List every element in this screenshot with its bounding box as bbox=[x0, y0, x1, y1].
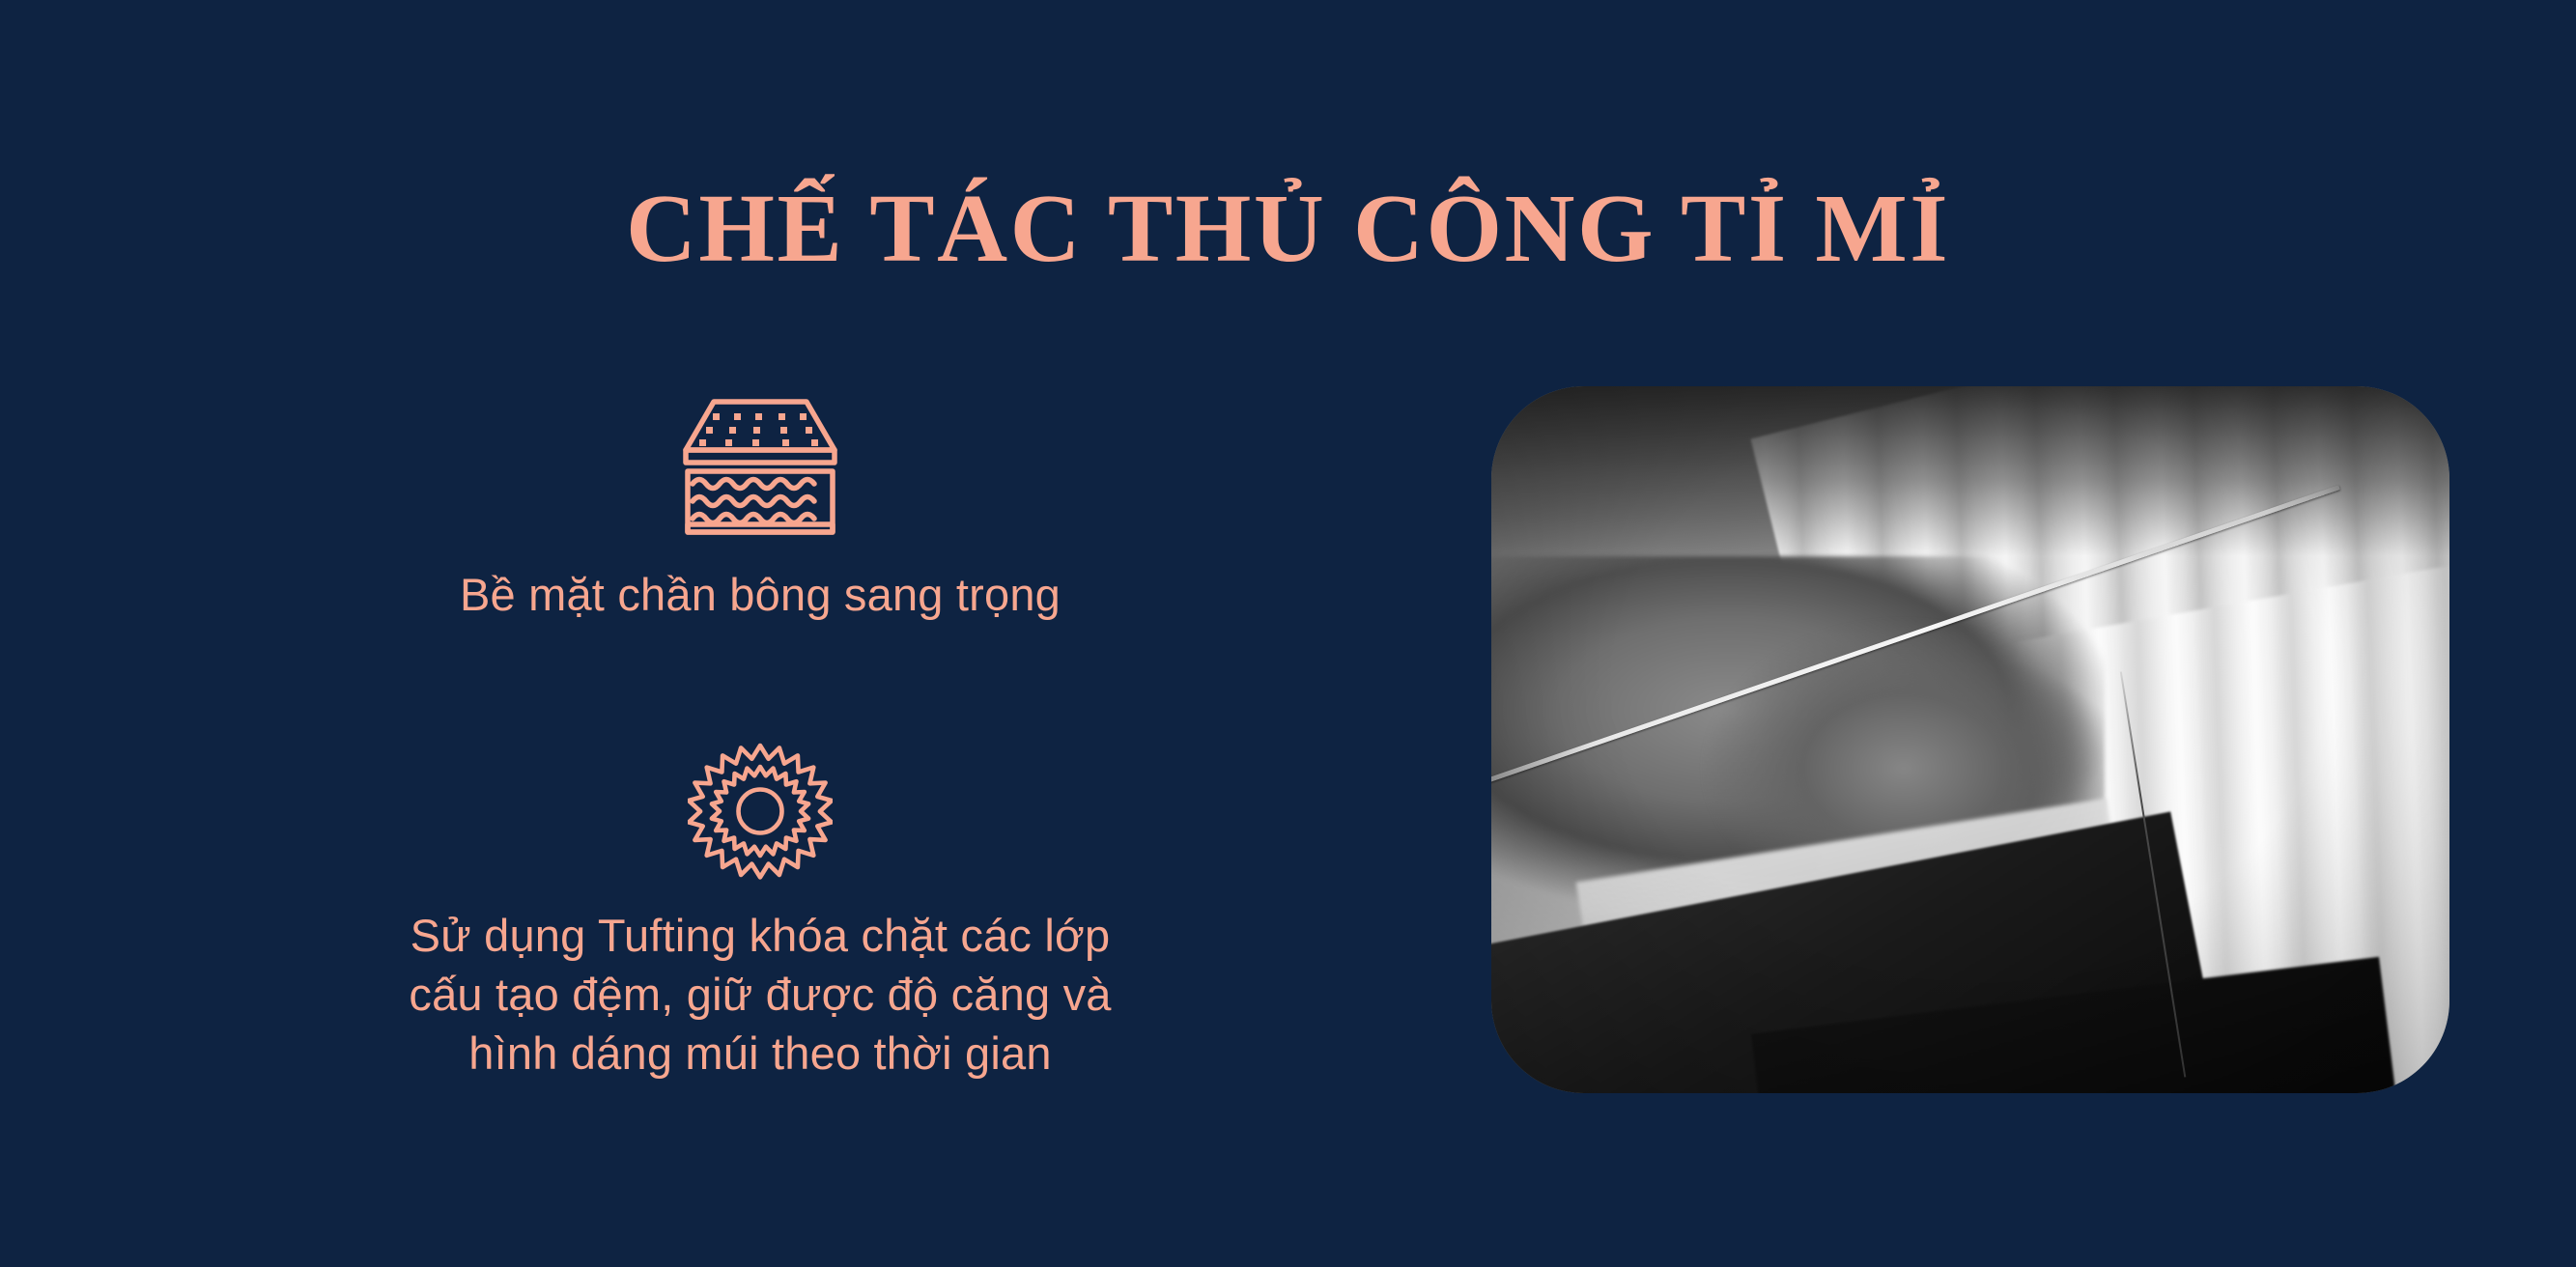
tufting-starburst-icon bbox=[688, 740, 833, 885]
craftsman-photo bbox=[1491, 386, 2449, 1093]
layered-mattress-icon bbox=[674, 386, 846, 541]
craftsman-photo-image bbox=[1491, 386, 2449, 1093]
feature-label-tufting: Sử dụng Tufting khóa chặt các lớp cấu tạ… bbox=[409, 906, 1111, 1083]
feature-item-quilted-surface: Bề mặt chần bông sang trọng bbox=[127, 386, 1393, 624]
slide-root: CHẾ TÁC THỦ CÔNG TỈ MỈ bbox=[0, 0, 2576, 1267]
feature-label-tufting-line3: hình dáng múi theo thời gian bbox=[409, 1024, 1111, 1083]
feature-label-tufting-line1: Sử dụng Tufting khóa chặt các lớp bbox=[409, 906, 1111, 965]
page-title: CHẾ TÁC THỦ CÔNG TỈ MỈ bbox=[0, 180, 2576, 277]
feature-list: Bề mặt chần bông sang trọng Sử dụng Tuft… bbox=[127, 386, 1393, 1083]
feature-item-tufting: Sử dụng Tufting khóa chặt các lớp cấu tạ… bbox=[127, 740, 1393, 1083]
feature-label-quilted-surface: Bề mặt chần bông sang trọng bbox=[460, 566, 1061, 624]
feature-label-tufting-line2: cấu tạo đệm, giữ được độ căng và bbox=[409, 965, 1111, 1024]
